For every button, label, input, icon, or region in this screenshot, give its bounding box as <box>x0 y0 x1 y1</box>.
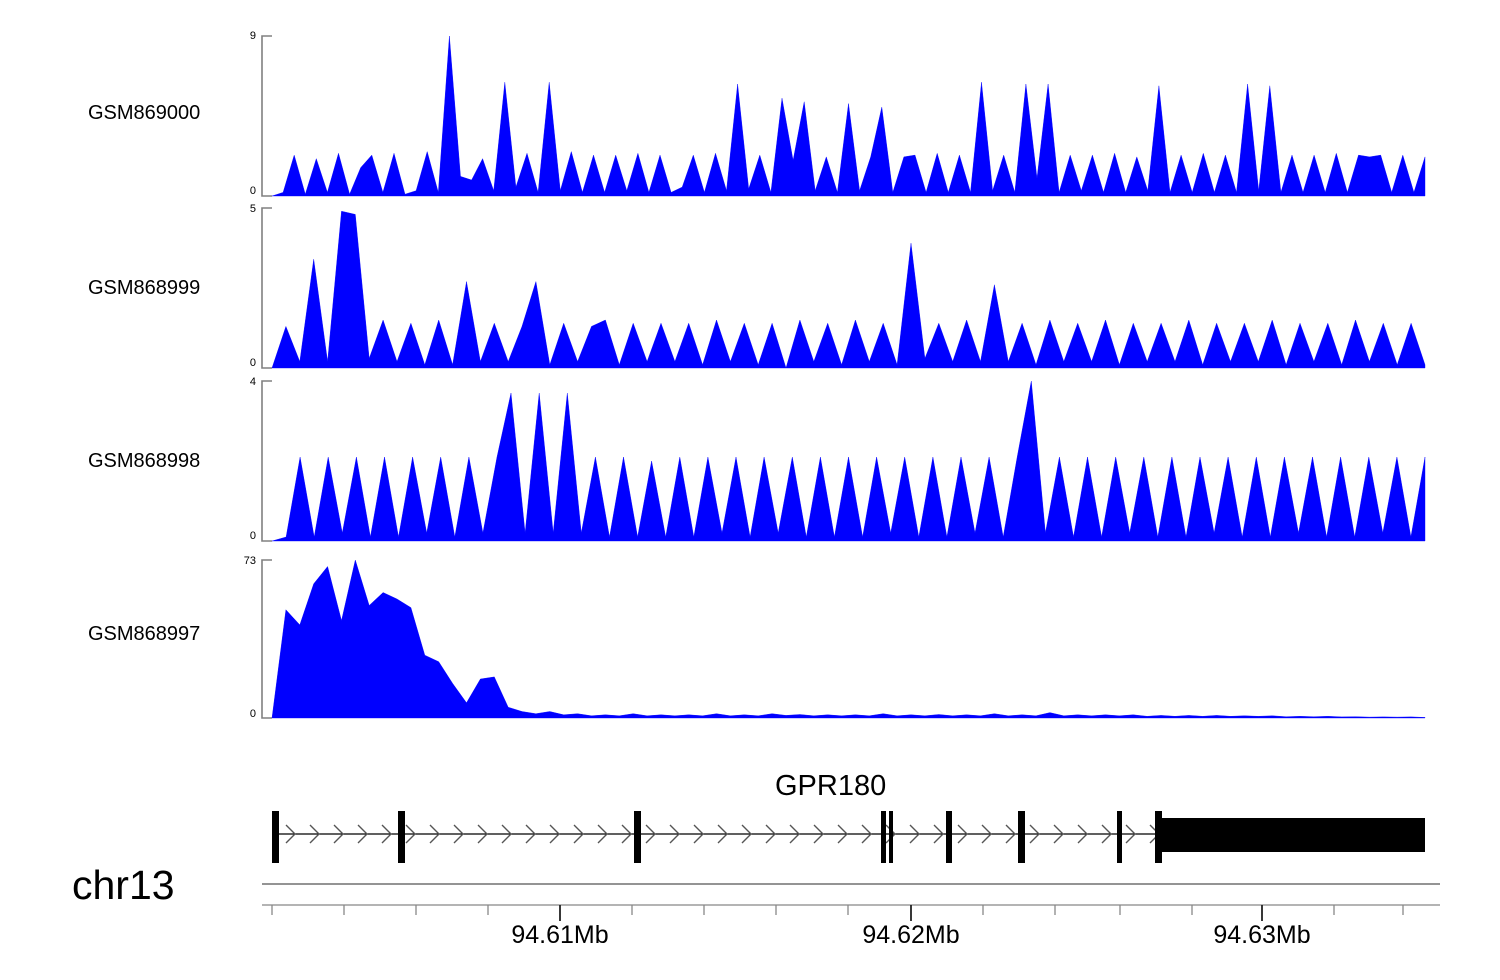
ruler-tick-label: 94.61Mb <box>480 921 640 950</box>
coordinate-ruler[interactable] <box>0 0 1500 980</box>
ruler-tick-label: 94.63Mb <box>1182 921 1342 950</box>
ruler-tick-label: 94.62Mb <box>831 921 991 950</box>
genome-browser-canvas: GSM869000 9 0 GSM868999 5 0 GSM868998 4 … <box>0 0 1500 980</box>
